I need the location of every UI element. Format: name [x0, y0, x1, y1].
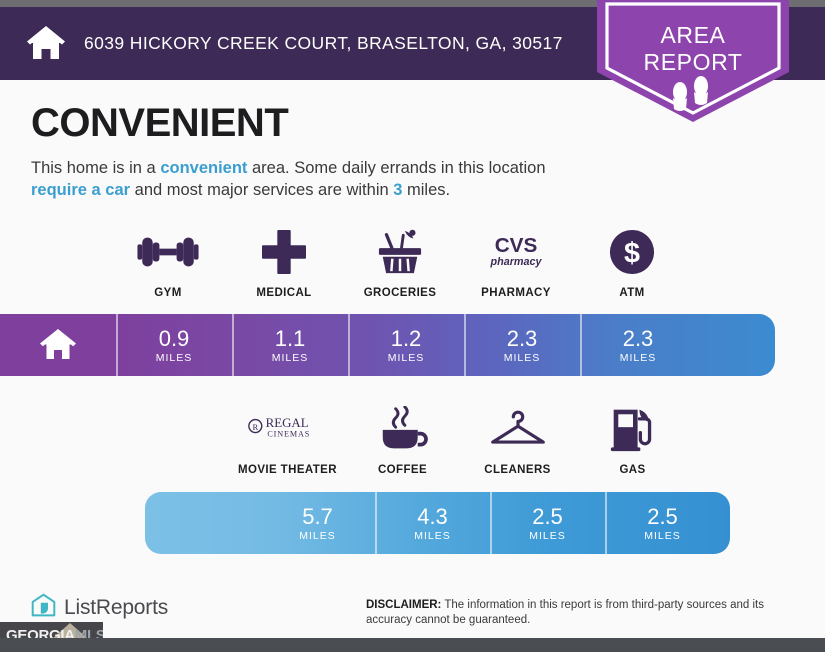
category-gas: GAS	[575, 405, 690, 476]
category-label: GAS	[619, 464, 645, 476]
listreports-house-icon	[30, 592, 57, 624]
dumbbell-icon	[137, 228, 199, 276]
distance-value: 2.3	[623, 327, 654, 350]
category-label: ATM	[619, 287, 644, 299]
distance-unit: MILES	[299, 530, 336, 542]
regal-cinemas-logo: R REGAL CINEMAS	[245, 405, 331, 453]
distance-value: 5.7	[302, 505, 333, 528]
area-report-badge: AREA REPORT	[597, 0, 789, 122]
distance-cell-gym: 0.9 MILES	[116, 314, 232, 376]
clothes-hanger-icon	[489, 405, 547, 453]
distance-cell-movie-theater: 5.7 MILES	[260, 492, 375, 554]
category-label: CLEANERS	[484, 464, 550, 476]
category-pharmacy: CVS pharmacy PHARMACY	[458, 228, 574, 299]
distance-unit: MILES	[620, 352, 657, 364]
distance-unit: MILES	[388, 352, 425, 364]
distance-cell-coffee: 4.3 MILES	[375, 492, 490, 554]
category-label: MEDICAL	[256, 287, 311, 299]
summary-text: This home is in a convenient area. Some …	[31, 157, 591, 201]
category-movie-theater: R REGAL CINEMAS MOVIE THEATER	[230, 405, 345, 476]
svg-text:$: $	[624, 238, 640, 270]
disclaimer-label: DISCLAIMER:	[366, 599, 441, 611]
distance-bar-row-1: 0.9 MILES 1.1 MILES 1.2 MILES 2.3 MILES …	[0, 314, 775, 376]
category-label: COFFEE	[378, 464, 427, 476]
distance-unit: MILES	[156, 352, 193, 364]
distance-value: 4.3	[417, 505, 448, 528]
disclaimer: DISCLAIMER: The information in this repo…	[366, 598, 806, 627]
summary-highlight-1: convenient	[160, 159, 247, 177]
summary-part-1: This home is in a	[31, 159, 160, 177]
category-label: GYM	[154, 287, 181, 299]
property-address: 6039 HICKORY CREEK COURT, BRASELTON, GA,…	[84, 33, 563, 54]
distance-value: 2.3	[507, 327, 538, 350]
distance-cell-cleaners: 2.5 MILES	[490, 492, 605, 554]
category-icon-row-2: R REGAL CINEMAS MOVIE THEATER COFFEE	[230, 405, 690, 476]
bottom-chrome-strip	[0, 638, 825, 652]
distance-value: 1.1	[275, 327, 306, 350]
category-coffee: COFFEE	[345, 405, 460, 476]
distance-cell-groceries: 1.2 MILES	[348, 314, 464, 376]
category-icon-row-1: GYM MEDICAL	[110, 228, 690, 299]
listreports-wordmark: ListReports	[64, 596, 168, 620]
category-atm: $ ATM	[574, 228, 690, 299]
category-label: PHARMACY	[481, 287, 551, 299]
category-label: MOVIE THEATER	[238, 464, 337, 476]
category-medical: MEDICAL	[226, 228, 342, 299]
page-title: CONVENIENT	[31, 101, 288, 146]
summary-part-3: and most major services are within	[130, 181, 393, 199]
cvs-wordmark: CVS	[495, 234, 538, 257]
svg-text:R: R	[252, 421, 258, 431]
category-cleaners: CLEANERS	[460, 405, 575, 476]
listreports-logo: ListReports	[30, 592, 168, 624]
distance-cell-medical: 1.1 MILES	[232, 314, 348, 376]
distance-unit: MILES	[504, 352, 541, 364]
fuel-pump-icon	[608, 405, 658, 453]
category-label: GROCERIES	[364, 287, 437, 299]
shopping-basket-icon	[376, 228, 424, 276]
dollar-circle-icon: $	[609, 228, 655, 276]
distance-value: 1.2	[391, 327, 422, 350]
area-report-page: 6039 HICKORY CREEK COURT, BRASELTON, GA,…	[0, 0, 825, 652]
medical-cross-icon	[262, 228, 306, 276]
category-groceries: GROCERIES	[342, 228, 458, 299]
home-icon	[38, 325, 78, 365]
distance-bar-row-2: 5.7 MILES 4.3 MILES 2.5 MILES 2.5 MILES	[145, 492, 730, 554]
home-marker	[0, 314, 116, 376]
regal-wordmark: REGAL	[265, 415, 308, 429]
distance-value: 2.5	[532, 505, 563, 528]
cinemas-wordmark: CINEMAS	[267, 429, 310, 438]
pharmacy-wordmark: pharmacy	[490, 256, 543, 268]
distance-cell-atm: 2.3 MILES	[580, 314, 696, 376]
ribbon-tail	[696, 314, 775, 376]
home-icon	[26, 24, 66, 64]
category-gym: GYM	[110, 228, 226, 299]
distance-cell-gas: 2.5 MILES	[605, 492, 720, 554]
distance-value: 0.9	[159, 327, 190, 350]
distance-cell-pharmacy: 2.3 MILES	[464, 314, 580, 376]
coffee-cup-icon	[377, 405, 429, 453]
summary-part-2: area. Some daily errands in this locatio…	[247, 159, 545, 177]
distance-unit: MILES	[414, 530, 451, 542]
distance-unit: MILES	[272, 352, 309, 364]
summary-highlight-2: require a car	[31, 181, 130, 199]
summary-part-4: miles.	[402, 181, 450, 199]
distance-value: 2.5	[647, 505, 678, 528]
distance-unit: MILES	[644, 530, 681, 542]
distance-unit: MILES	[529, 530, 566, 542]
cvs-pharmacy-logo: CVS pharmacy	[476, 228, 556, 276]
ribbon-lead	[145, 492, 260, 554]
